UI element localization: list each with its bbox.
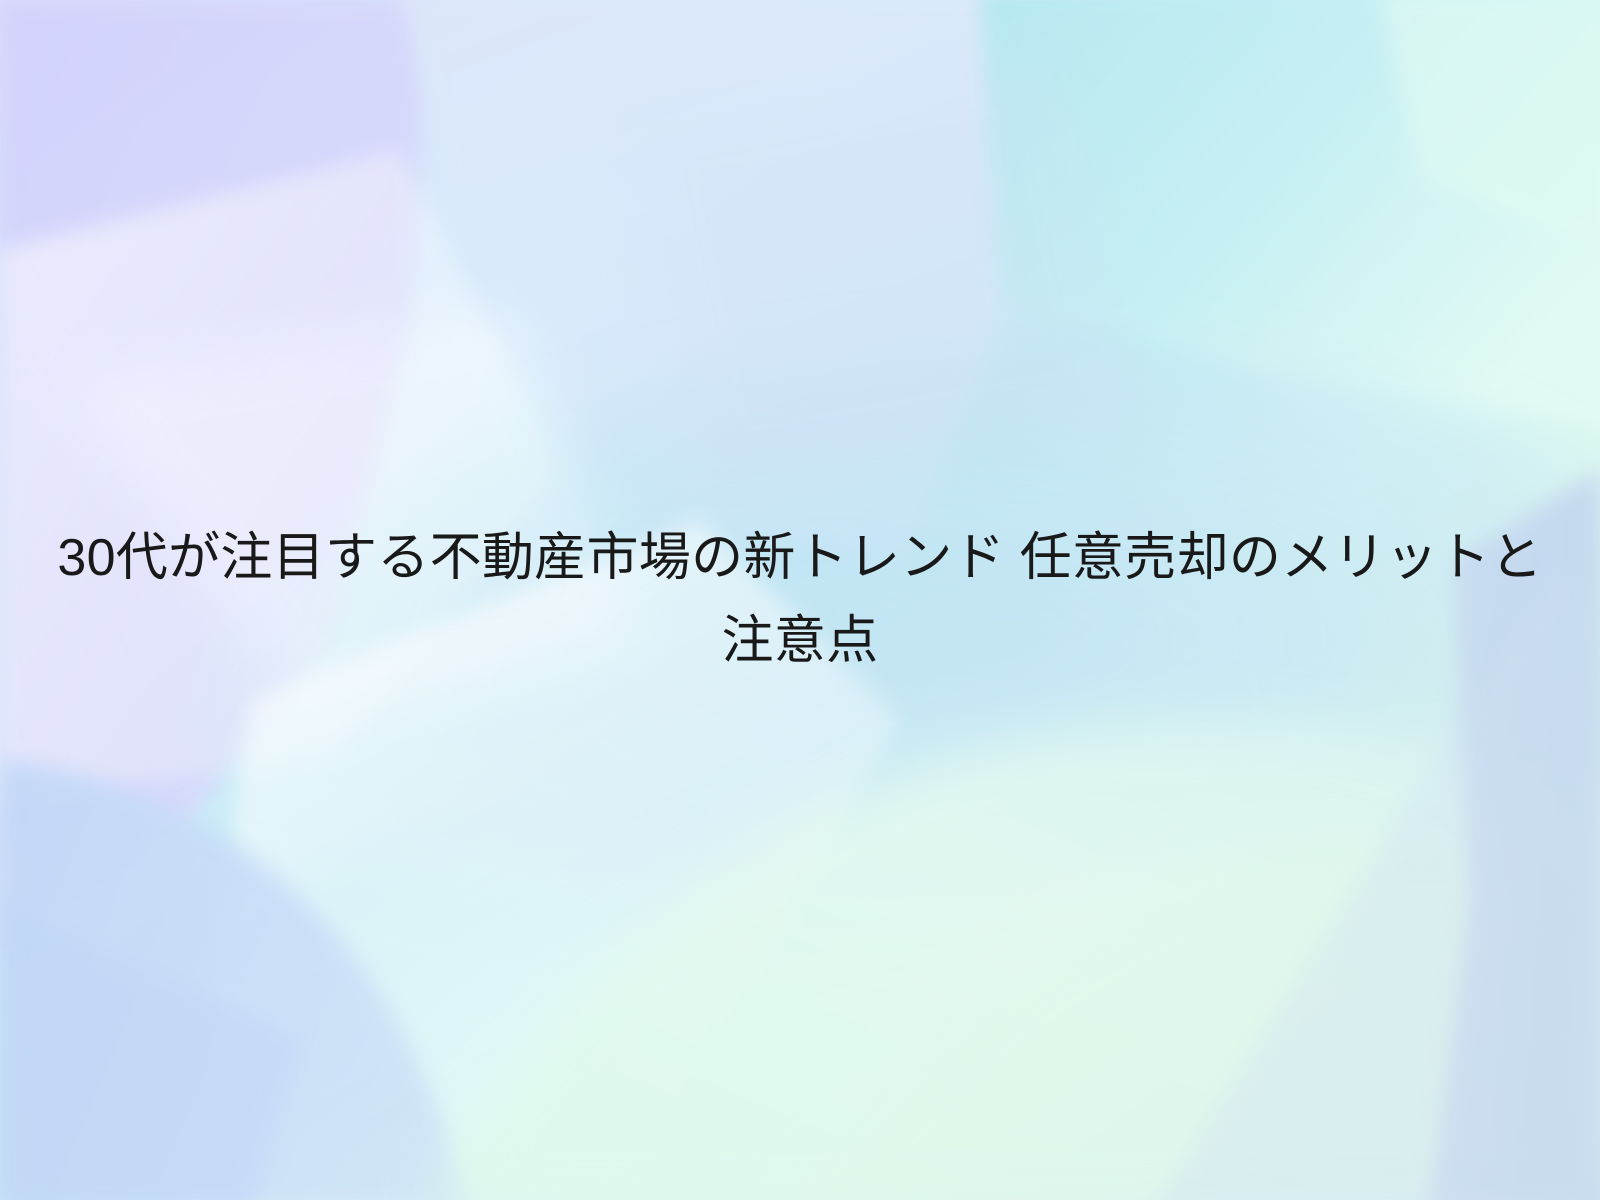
upper-mid-soft-shade bbox=[620, 40, 1140, 500]
background-shape-group bbox=[0, 0, 1600, 1200]
abstract-gradient-background bbox=[0, 0, 1600, 1200]
title-slide: 30代が注目する不動産市場の新トレンド 任意売却のメリットと注意点 bbox=[0, 0, 1600, 1200]
